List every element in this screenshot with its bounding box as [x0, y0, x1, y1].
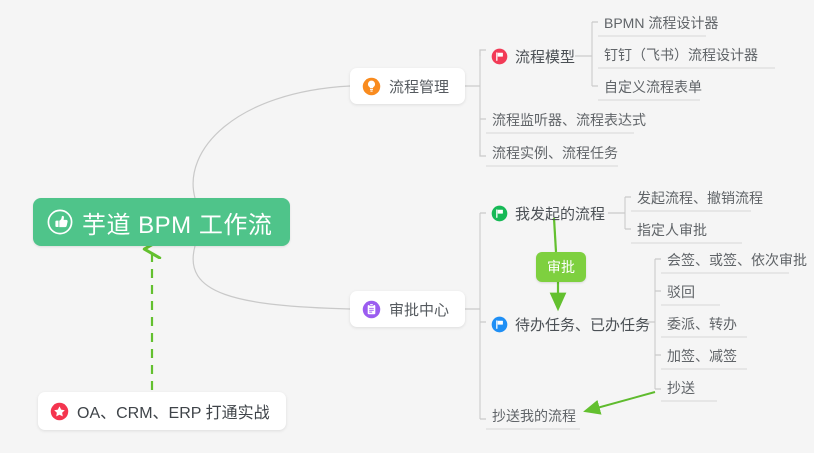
mindmap-canvas: 芋道 BPM 工作流 流程管理 流程模型 BPMN 流程设计器 钉钉（飞书: [0, 0, 814, 453]
node-my-initiated-process[interactable]: 我发起的流程: [491, 199, 605, 227]
node-todo-done-tasks[interactable]: 待办任务、已办任务: [491, 310, 650, 338]
leaf-dingtalk-feishu-designer[interactable]: 钉钉（飞书）流程设计器: [600, 41, 762, 69]
leaf-label: 加签、减签: [667, 346, 737, 366]
flag-icon: [491, 205, 508, 222]
leaf-custom-process-form[interactable]: 自定义流程表单: [600, 73, 706, 101]
star-icon: [50, 402, 69, 421]
node-label: 流程模型: [515, 46, 575, 67]
leaf-start-cancel-process[interactable]: 发起流程、撤销流程: [633, 184, 767, 212]
leaf-assignee-approval[interactable]: 指定人审批: [633, 216, 711, 244]
branch-approval-center[interactable]: 审批中心: [350, 291, 465, 327]
leaf-label: BPMN 流程设计器: [604, 13, 718, 33]
branch-label: 审批中心: [389, 299, 449, 320]
leaf-label: 委派、转办: [667, 314, 737, 334]
flag-icon: [491, 48, 508, 65]
cc-arrow: [586, 392, 655, 411]
tag-approval[interactable]: 审批: [536, 252, 586, 282]
leaf-label: 会签、或签、依次审批: [667, 250, 807, 270]
leaf-process-instance-task[interactable]: 流程实例、流程任务: [488, 139, 622, 167]
leaf-countersign-orsign-sequential[interactable]: 会签、或签、依次审批: [663, 246, 811, 274]
leaf-label: 钉钉（飞书）流程设计器: [604, 45, 758, 65]
lightbulb-icon: [362, 77, 381, 96]
leaf-carbon-copy[interactable]: 抄送: [663, 374, 699, 402]
floating-note-integration[interactable]: OA、CRM、ERP 打通实战: [38, 392, 286, 430]
root-label: 芋道 BPM 工作流: [82, 205, 272, 240]
leaf-add-remove-sign[interactable]: 加签、减签: [663, 342, 741, 370]
node-label: 待办任务、已办任务: [515, 314, 650, 335]
floating-note-label: OA、CRM、ERP 打通实战: [77, 399, 270, 423]
leaf-label: 抄送我的流程: [492, 406, 576, 426]
node-process-model[interactable]: 流程模型: [491, 42, 575, 70]
flag-icon: [491, 316, 508, 333]
leaf-label: 指定人审批: [637, 220, 707, 240]
leaf-label: 发起流程、撤销流程: [637, 188, 763, 208]
clipboard-icon: [362, 300, 381, 319]
leaf-label: 驳回: [667, 282, 695, 302]
branch-process-management[interactable]: 流程管理: [350, 68, 465, 104]
leaf-process-listener-expression[interactable]: 流程监听器、流程表达式: [488, 106, 650, 134]
leaf-delegate-transfer[interactable]: 委派、转办: [663, 310, 741, 338]
leaf-label: 抄送: [667, 378, 695, 398]
leaf-reject[interactable]: 驳回: [663, 278, 699, 306]
leaf-bpmn-designer[interactable]: BPMN 流程设计器: [600, 9, 722, 37]
leaf-label: 自定义流程表单: [604, 77, 702, 97]
thumbs-up-icon: [47, 209, 73, 235]
root-node[interactable]: 芋道 BPM 工作流: [33, 198, 290, 246]
branch-label: 流程管理: [389, 76, 449, 97]
node-label: 我发起的流程: [515, 203, 605, 224]
tag-label: 审批: [547, 257, 575, 277]
leaf-cc-to-me-process[interactable]: 抄送我的流程: [488, 402, 580, 430]
leaf-label: 流程监听器、流程表达式: [492, 110, 646, 130]
leaf-label: 流程实例、流程任务: [492, 143, 618, 163]
